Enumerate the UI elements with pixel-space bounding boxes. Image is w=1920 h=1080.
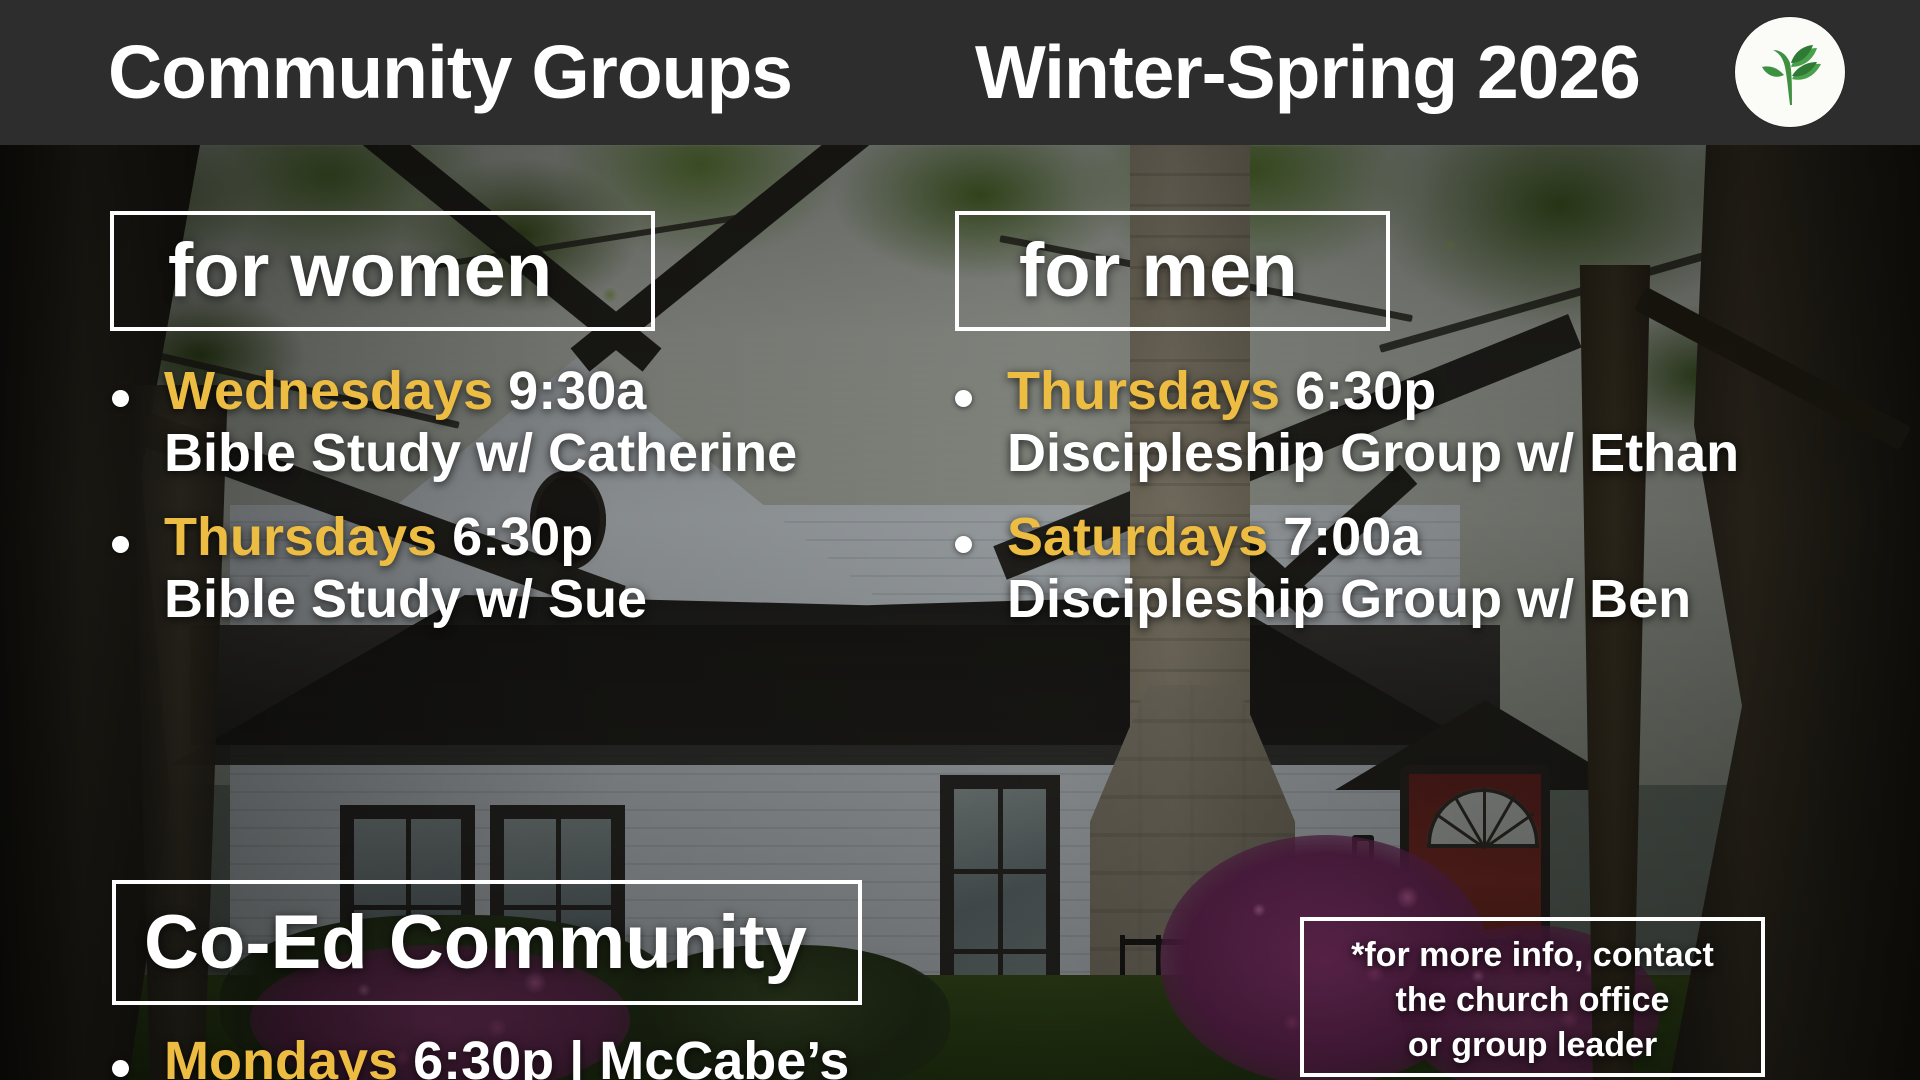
bullet-icon [112,536,129,553]
list-item: Mondays 6:30p | McCabe’s [112,1030,1072,1080]
section-heading-coed: Co-Ed Community [144,903,807,983]
group-schedule-line: Saturdays 7:00a [1007,506,1739,568]
group-day: Thursdays [164,507,437,567]
bullet-icon [112,1060,129,1077]
group-day: Thursdays [1007,361,1280,421]
group-detail: Bible Study w/ Sue [164,568,797,630]
group-day: Mondays [164,1031,398,1080]
footnote-line-3: or group leader [1314,1023,1751,1068]
content-layer: for women Wednesdays 9:30a Bible Study w… [0,145,1920,1080]
list-item: Thursdays 6:30p Discipleship Group w/ Et… [955,360,1739,484]
group-time: 7:00a [1283,507,1421,567]
group-day: Wednesdays [164,361,493,421]
footnote-line-1: *for more info, contact [1314,933,1751,978]
group-list-men: Thursdays 6:30p Discipleship Group w/ Et… [955,360,1739,652]
season-title: Winter-Spring 2026 [975,22,1640,122]
footnote-box: *for more info, contact the church offic… [1300,917,1765,1077]
group-time: 9:30a [508,361,646,421]
header-bar: Community Groups Winter-Spring 2026 [0,0,1920,145]
bullet-icon [955,536,972,553]
group-schedule-line: Thursdays 6:30p [1007,360,1739,422]
bullet-icon [955,390,972,407]
group-time-location: 6:30p | McCabe’s [413,1031,849,1080]
group-time: 6:30p [1295,361,1436,421]
section-heading-box-women: for women [110,211,655,331]
section-heading-women: for women [168,231,552,311]
section-heading-box-men: for men [955,211,1390,331]
page-title: Community Groups [108,22,792,122]
list-item: Thursdays 6:30p Bible Study w/ Sue [112,506,797,630]
sprout-leaf-icon [1735,17,1845,127]
group-schedule-line: Mondays 6:30p | McCabe’s [164,1030,1072,1080]
footnote-line-2: the church office [1314,978,1751,1023]
group-schedule-line: Wednesdays 9:30a [164,360,797,422]
section-heading-box-coed: Co-Ed Community [112,880,862,1005]
section-heading-men: for men [1019,231,1298,311]
bullet-icon [112,390,129,407]
group-detail: Discipleship Group w/ Ben [1007,568,1739,630]
group-time: 6:30p [452,507,593,567]
slide-canvas: Community Groups Winter-Spring 2026 for … [0,0,1920,1080]
list-item: Wednesdays 9:30a Bible Study w/ Catherin… [112,360,797,484]
group-day: Saturdays [1007,507,1268,567]
group-list-coed: Mondays 6:30p | McCabe’s Wednesdays 6:00… [112,1030,1072,1080]
group-list-women: Wednesdays 9:30a Bible Study w/ Catherin… [112,360,797,652]
group-schedule-line: Thursdays 6:30p [164,506,797,568]
group-detail: Bible Study w/ Catherine [164,422,797,484]
list-item: Saturdays 7:00a Discipleship Group w/ Be… [955,506,1739,630]
group-detail: Discipleship Group w/ Ethan [1007,422,1739,484]
